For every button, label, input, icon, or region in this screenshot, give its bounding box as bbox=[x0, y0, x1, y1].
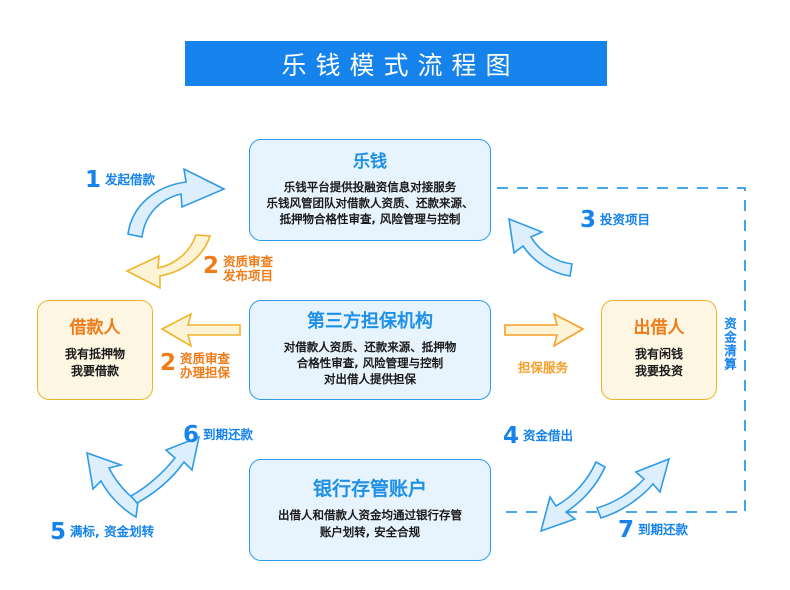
node-borrower-line-2: 我要借款 bbox=[65, 363, 125, 380]
node-lender-line-1: 我有闲钱 bbox=[635, 346, 683, 363]
node-bank-body: 出借人和借款人资金均通过银行存管 账户划转, 安全合规 bbox=[278, 507, 462, 541]
step-7-text: 到期还款 bbox=[638, 519, 688, 537]
step-1-number: 1 bbox=[85, 169, 101, 192]
page-title-text: 乐钱模式流程图 bbox=[272, 46, 519, 82]
node-bank-line-2: 账户划转, 安全合规 bbox=[278, 524, 462, 541]
step-6-text: 到期还款 bbox=[203, 424, 253, 442]
step-label-4: 4 资金借出 bbox=[503, 425, 573, 448]
curved-arrow-down-left-blue-icon bbox=[541, 462, 605, 531]
curved-arrow-up-left-icon bbox=[87, 453, 138, 517]
flowchart-canvas: 乐钱模式流程图 bbox=[0, 0, 790, 590]
step-2-top-number: 2 bbox=[203, 255, 219, 278]
node-lender-line-2: 我要投资 bbox=[635, 363, 683, 380]
node-leqian[interactable]: 乐钱 乐钱平台提供投融资信息对接服务 乐钱风管团队对借款人资质、还款来源、 抵押… bbox=[249, 139, 491, 241]
node-borrower-title: 借款人 bbox=[70, 320, 121, 337]
node-guarantee-title: 第三方担保机构 bbox=[307, 313, 433, 331]
label-guarantee-service-text: 担保服务 bbox=[518, 357, 568, 376]
node-guarantee-line-3: 对出借人提供担保 bbox=[284, 371, 457, 387]
step-7-number: 7 bbox=[618, 519, 634, 542]
curved-arrow-down-left-orange-icon bbox=[127, 235, 210, 288]
step-4-number: 4 bbox=[503, 425, 519, 448]
step-2-middle-line-1: 资质审查 bbox=[180, 352, 230, 366]
node-borrower[interactable]: 借款人 我有抵押物 我要借款 bbox=[37, 300, 153, 400]
node-guarantee-line-2: 合格性审查, 风险管理与控制 bbox=[284, 355, 457, 371]
step-label-1: 1 发起借款 bbox=[85, 169, 155, 192]
step-6-number: 6 bbox=[183, 424, 199, 447]
node-bank-custody-account[interactable]: 银行存管账户 出借人和借款人资金均通过银行存管 账户划转, 安全合规 bbox=[249, 459, 491, 561]
step-3-text: 投资项目 bbox=[600, 209, 650, 227]
node-borrower-body: 我有抵押物 我要借款 bbox=[65, 346, 125, 380]
step-1-text: 发起借款 bbox=[105, 169, 155, 187]
step-2-top-line-1: 资质审查 bbox=[223, 255, 273, 269]
straight-arrow-right-orange-icon bbox=[505, 314, 583, 346]
step-label-7: 7 到期还款 bbox=[618, 519, 688, 542]
node-leqian-line-3: 抵押物合格性审查, 风险管理与控制 bbox=[267, 211, 474, 227]
node-third-party-guarantee[interactable]: 第三方担保机构 对借款人资质、还款来源、抵押物 合格性审查, 风险管理与控制 对… bbox=[249, 300, 491, 400]
curved-arrow-up-left-blue-icon bbox=[509, 219, 572, 276]
step-label-2-top: 2 资质审查 发布项目 bbox=[203, 255, 273, 283]
step-2-top-line-2: 发布项目 bbox=[223, 269, 273, 283]
step-2-middle-line-2: 办理担保 bbox=[180, 366, 230, 380]
node-borrower-line-1: 我有抵押物 bbox=[65, 346, 125, 363]
node-guarantee-line-1: 对借款人资质、还款来源、抵押物 bbox=[284, 339, 457, 355]
curved-arrow-up-right-blue-icon bbox=[597, 459, 669, 518]
step-label-3: 3 投资项目 bbox=[580, 209, 650, 232]
step-label-5: 5 满标, 资金划转 bbox=[50, 521, 154, 544]
node-leqian-title: 乐钱 bbox=[353, 154, 387, 171]
node-leqian-body: 乐钱平台提供投融资信息对接服务 乐钱风管团队对借款人资质、还款来源、 抵押物合格… bbox=[267, 179, 474, 227]
node-leqian-line-1: 乐钱平台提供投融资信息对接服务 bbox=[267, 179, 474, 195]
step-2-middle-text: 资质审查 办理担保 bbox=[180, 352, 230, 380]
node-lender-title: 出借人 bbox=[634, 320, 685, 337]
label-settlement-vertical: 资金清算 bbox=[721, 317, 737, 371]
straight-arrow-left-orange-icon bbox=[162, 314, 240, 346]
node-lender[interactable]: 出借人 我有闲钱 我要投资 bbox=[601, 300, 717, 400]
step-2-top-text: 资质审查 发布项目 bbox=[223, 255, 273, 283]
step-4-text: 资金借出 bbox=[523, 425, 573, 443]
node-guarantee-body: 对借款人资质、还款来源、抵押物 合格性审查, 风险管理与控制 对出借人提供担保 bbox=[284, 339, 457, 387]
step-label-2-middle: 2 资质审查 办理担保 bbox=[160, 352, 230, 380]
page-title: 乐钱模式流程图 bbox=[185, 41, 607, 86]
node-bank-title: 银行存管账户 bbox=[313, 480, 427, 499]
node-leqian-line-2: 乐钱风管团队对借款人资质、还款来源、 bbox=[267, 195, 474, 211]
node-bank-line-1: 出借人和借款人资金均通过银行存管 bbox=[278, 507, 462, 524]
label-guarantee-service: 担保服务 bbox=[518, 357, 568, 376]
step-3-number: 3 bbox=[580, 209, 596, 232]
step-label-6: 6 到期还款 bbox=[183, 424, 253, 447]
step-2-middle-number: 2 bbox=[160, 352, 176, 375]
step-5-number: 5 bbox=[50, 521, 66, 544]
node-lender-body: 我有闲钱 我要投资 bbox=[635, 346, 683, 380]
step-5-text: 满标, 资金划转 bbox=[70, 521, 154, 539]
